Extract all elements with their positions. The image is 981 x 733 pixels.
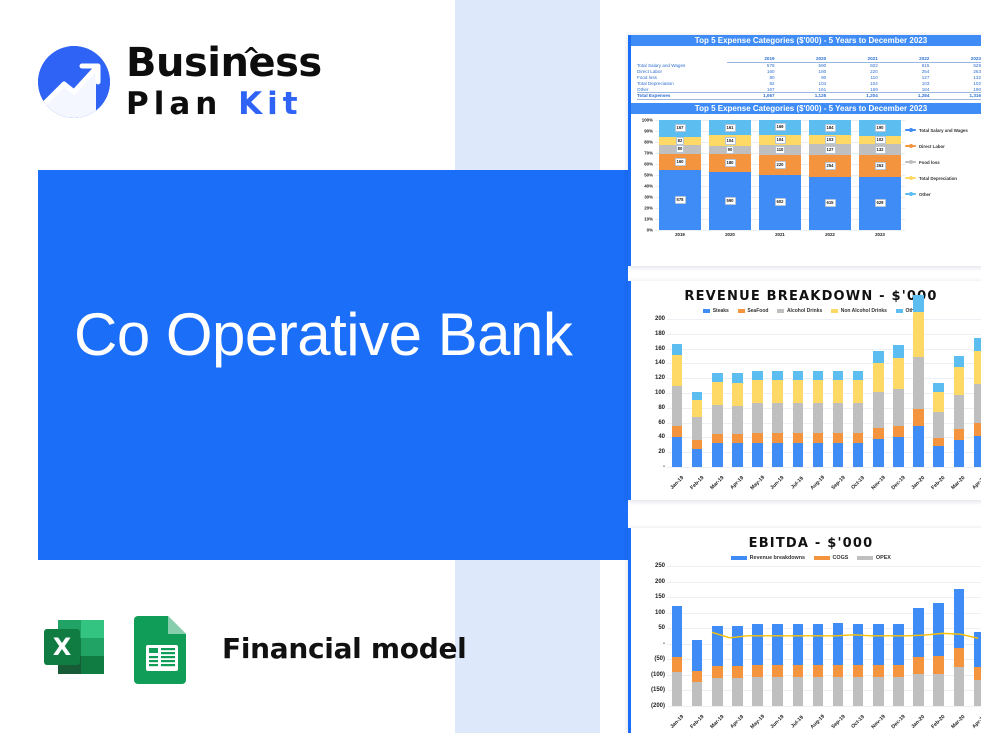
axis-tick-label: Oct-19 <box>850 714 866 730</box>
axis-tick-label: Sep-19 <box>830 714 846 730</box>
chart-bar-stack <box>933 319 943 467</box>
axis-tick: Dec-19 <box>888 710 908 728</box>
slide-canvas: Business^ Plan Kit Co Operative Bank X <box>0 0 981 733</box>
brand-logo-line1: Business^ <box>126 42 322 84</box>
axis-tick: Jan-20 <box>909 710 929 728</box>
legend-item: Total Depreciation <box>905 176 981 181</box>
axis-tick: May-19 <box>748 710 768 728</box>
chart-bar-segment <box>793 371 803 381</box>
chart-bar-segment <box>813 433 823 443</box>
chart-bar-segment <box>813 443 823 467</box>
bar-data-label: 180 <box>725 159 736 167</box>
chart-bar-segment <box>974 632 981 667</box>
chart-bar-segment <box>913 295 923 312</box>
axis-tick-label: 50% <box>644 172 653 177</box>
chart-bar-segment <box>813 624 823 664</box>
chart-bar-segment <box>813 403 823 433</box>
chart-bar-segment <box>833 380 843 403</box>
axis-tick-label: 60 <box>658 420 665 426</box>
chart-bar-segment <box>853 443 863 467</box>
chart-bar-stack <box>833 319 843 467</box>
chart-bar-column <box>949 319 969 467</box>
chart-bar-segment <box>712 626 722 666</box>
chart-bar-column <box>768 566 788 706</box>
brand-logo-line1-text: Business <box>126 40 322 86</box>
axis-tick-label: 120 <box>655 375 665 381</box>
chart-bar-segment <box>813 371 823 381</box>
chart-bar-segment <box>692 671 702 681</box>
chart-bar-segment: 80 <box>659 145 702 153</box>
legend-swatch <box>777 309 784 314</box>
chart-bar-segment <box>933 674 943 706</box>
expenses-table-wrap: 2019 2020 2021 2022 2023 Total Salary an… <box>631 46 981 103</box>
chart-bar-stack <box>893 319 903 467</box>
chart-bar-column <box>808 566 828 706</box>
axis-tick-label: Jan-20 <box>911 714 927 730</box>
chart-bar-column: 184103127254615 <box>809 120 852 230</box>
chart-bar-column <box>727 319 747 467</box>
legend-item: Alcohol Drinks <box>777 308 822 314</box>
chart-bar-segment: 167 <box>659 120 702 137</box>
chart-bar-segment <box>833 403 843 433</box>
chart-bar-stack <box>712 319 722 467</box>
chart-bar-stack <box>732 566 742 706</box>
chart-bar-segment: 104 <box>759 135 802 144</box>
axis-tick-label: Jul-19 <box>790 476 805 491</box>
axis-tick: Apr-20 <box>969 471 981 489</box>
chart-bar-segment: 110 <box>759 145 802 155</box>
bar-data-label: 160 <box>675 158 686 166</box>
legend-label: Total Depreciation <box>919 176 957 181</box>
chart-bar-segment <box>692 682 702 706</box>
axis-tick: Feb-19 <box>687 471 707 489</box>
revenue-screenshot-card[interactable]: REVENUE BREAKDOWN - $'000 SteaksSeaFoodA… <box>628 281 981 500</box>
table-cell: 1,316 <box>933 92 981 99</box>
chart-bar-segment <box>853 624 863 664</box>
chart-bar-segment <box>893 358 903 389</box>
chart-bar-segment <box>913 357 923 410</box>
chart-bar-segment <box>752 677 762 706</box>
revenue-chart-plot <box>667 319 981 467</box>
col-header-2021: 2021 <box>830 55 882 63</box>
axis-tick-label: 0% <box>647 227 653 232</box>
chart-bar-segment <box>853 665 863 678</box>
file-format-badges: X Financial model <box>38 612 466 684</box>
chart-bar-segment: 127 <box>809 144 852 155</box>
expenses-screenshot-card[interactable]: Top 5 Expense Categories ($'000) - 5 Yea… <box>628 35 981 266</box>
chart-bar-segment: 104 <box>709 135 752 145</box>
chart-bar-segment <box>793 677 803 706</box>
axis-tick-label: 40% <box>644 183 653 188</box>
chart-bar-segment <box>732 443 742 467</box>
chart-bar-column <box>888 319 908 467</box>
axis-tick-label: (200) <box>651 703 665 709</box>
axis-tick-label: Feb-19 <box>689 714 705 730</box>
axis-tick-label: 100% <box>642 117 653 122</box>
axis-tick-label: Jun-19 <box>770 475 786 491</box>
legend-swatch <box>905 161 916 163</box>
axis-tick-label: Mar-19 <box>709 475 725 491</box>
bar-data-label: 103 <box>825 136 836 144</box>
chart-bar-segment <box>974 423 981 436</box>
chart-bar-column <box>687 319 707 467</box>
axis-tick-label: 2019 <box>659 232 702 237</box>
col-header-2019: 2019 <box>727 55 779 63</box>
axis-tick: Oct-19 <box>848 471 868 489</box>
chart-bar-segment <box>954 440 964 467</box>
axis-tick-label: Apr-20 <box>971 714 981 730</box>
axis-tick-label: 100 <box>655 610 665 616</box>
chart-bar-segment <box>732 678 742 706</box>
chart-bar-segment <box>772 677 782 706</box>
chart-bar-segment: 590 <box>709 172 752 230</box>
axis-tick: Oct-19 <box>848 710 868 728</box>
axis-tick-label: 70% <box>644 150 653 155</box>
chart-bar-segment <box>752 403 762 433</box>
chart-bar-segment <box>772 433 782 443</box>
axis-tick-label: Jan-19 <box>669 475 685 491</box>
chart-bar-segment <box>793 624 803 664</box>
bar-data-label: 220 <box>775 161 786 169</box>
chart-bar-segment <box>752 371 762 381</box>
chart-bar-column <box>909 566 929 706</box>
chart-bar-segment <box>893 426 903 438</box>
legend-item: Food loss <box>905 160 981 165</box>
chart-bar-segment: 629 <box>859 177 902 230</box>
chart-bar-segment <box>772 371 782 381</box>
bar-data-label: 167 <box>675 124 686 132</box>
chart-bar-segment <box>933 383 943 392</box>
chart-bar-segment <box>853 380 863 403</box>
chart-bar-column <box>707 566 727 706</box>
col-header-2022: 2022 <box>882 55 934 63</box>
axis-tick-label: (150) <box>651 687 665 693</box>
bar-data-label: 590 <box>725 197 736 205</box>
table-total-row: Total Expenses1,0671,1251,2041,2841,316 <box>637 92 981 99</box>
chart-bar-segment: 90 <box>709 146 752 155</box>
chart-bar-segment <box>692 392 702 400</box>
axis-tick: Feb-19 <box>687 710 707 728</box>
chart-bar-segment <box>913 657 923 674</box>
chart-bar-segment <box>873 665 883 678</box>
axis-tick-label: 20% <box>644 205 653 210</box>
axis-tick: Nov-19 <box>868 471 888 489</box>
axis-tick-label: - <box>663 464 665 470</box>
chart-bar-segment <box>893 345 903 358</box>
chart-bar-segment <box>793 665 803 678</box>
bar-data-label: 110 <box>775 146 786 154</box>
axis-tick: Feb-20 <box>929 710 949 728</box>
legend-item: Revenue breakdowns <box>731 555 805 561</box>
chart-bar-segment <box>873 428 883 439</box>
chart-bar-segment <box>893 437 903 467</box>
chart-bar-column <box>929 566 949 706</box>
axis-tick-label: 10% <box>644 216 653 221</box>
expenses-chart-bars: 1678280160578161104901805901691041102206… <box>655 120 905 230</box>
chart-bar-segment <box>954 589 964 648</box>
chart-bar-stack <box>813 566 823 706</box>
chart-bar-segment <box>813 380 823 403</box>
axis-tick-label: Mar-19 <box>709 714 725 730</box>
chart-bar-segment <box>732 434 742 443</box>
bar-data-label: 169 <box>775 123 786 131</box>
chart-bar-segment <box>772 665 782 678</box>
axis-tick: Feb-20 <box>929 471 949 489</box>
chart-bar-segment <box>954 367 964 395</box>
bar-data-label: 104 <box>725 137 736 145</box>
legend-swatch <box>857 556 873 560</box>
table-header-row: 2019 2020 2021 2022 2023 <box>637 55 981 63</box>
chart-bar-column: 1678280160578 <box>659 120 702 230</box>
axis-tick: Mar-20 <box>949 710 969 728</box>
chart-bar-segment <box>712 373 722 382</box>
axis-tick-label: Feb-20 <box>931 714 947 730</box>
revenue-chart-body: 20018016014012010080604020- Jan-19Feb-19… <box>631 319 981 500</box>
chart-bar-segment <box>712 405 722 435</box>
chart-bar-segment <box>833 623 843 665</box>
axis-tick-label: 140 <box>655 360 665 366</box>
google-sheets-icon <box>132 612 192 684</box>
chart-bar-stack <box>692 319 702 467</box>
legend-swatch <box>731 556 747 560</box>
legend-label: Alcohol Drinks <box>787 308 822 314</box>
revenue-chart-bars <box>667 319 981 467</box>
chart-bar-stack <box>873 566 883 706</box>
row-label: Total Expenses <box>637 92 727 99</box>
legend-item: SeaFood <box>738 308 769 314</box>
chart-bar-segment <box>893 624 903 664</box>
bar-data-label: 629 <box>875 199 886 207</box>
chart-bar-segment <box>793 403 803 433</box>
ebitda-chart-body: 25020015010050-(50)(100)(150)(200) Jan-1… <box>631 566 981 733</box>
legend-item: Steaks <box>703 308 729 314</box>
chart-bar-segment <box>752 433 762 443</box>
chart-bar-segment <box>712 666 722 678</box>
axis-tick: Jan-19 <box>667 710 687 728</box>
legend-swatch <box>738 309 745 314</box>
legend-label: Total Salary and Wages <box>919 128 968 133</box>
chart-bar-segment <box>672 672 682 706</box>
expenses-table-body: Total Salary and Wages578590602615629Dir… <box>637 63 981 100</box>
axis-tick-label: 2020 <box>709 232 752 237</box>
axis-tick-label: 50 <box>658 625 665 631</box>
chart-bar-segment <box>772 443 782 467</box>
bar-data-label: 161 <box>725 124 736 132</box>
axis-tick-label: Apr-19 <box>730 714 746 730</box>
axis-tick-label: 90% <box>644 128 653 133</box>
axis-tick-label: 200 <box>655 579 665 585</box>
chart-bar-segment <box>833 665 843 678</box>
chart-bar-segment <box>954 429 964 440</box>
chart-bar-segment: 602 <box>759 175 802 230</box>
chart-bar-stack <box>974 566 981 706</box>
legend-label: Other <box>919 192 931 197</box>
expenses-chart-legend: Total Salary and WagesDirect LaborFood l… <box>905 128 981 208</box>
chart-bar-stack <box>712 566 722 706</box>
chart-bar-segment <box>732 373 742 383</box>
excel-icon: X <box>38 612 110 684</box>
chart-bar-segment <box>853 403 863 433</box>
chart-bar-segment <box>933 656 943 674</box>
file-format-label: Financial model <box>222 632 466 665</box>
trend-up-circle-icon <box>38 46 110 118</box>
legend-label: COGS <box>833 555 849 561</box>
legend-label: SeaFood <box>747 308 768 314</box>
chart-bar-segment: 220 <box>759 155 802 175</box>
chart-bar-segment <box>672 657 682 672</box>
axis-tick-label: Aug-19 <box>810 714 827 731</box>
col-header-2023: 2023 <box>933 55 981 63</box>
bar-data-label: 82 <box>676 137 685 145</box>
legend-item: COGS <box>814 555 848 561</box>
axis-tick-label: Aug-19 <box>810 475 827 492</box>
chart-bar-stack <box>933 566 943 706</box>
axis-tick: Jun-19 <box>768 710 788 728</box>
chart-bar-segment <box>732 383 742 406</box>
axis-tick-label: 2023 <box>859 232 902 237</box>
axis-tick: Sep-19 <box>828 710 848 728</box>
chart-bar-segment: 190 <box>859 120 902 136</box>
revenue-chart-x-labels: Jan-19Feb-19Mar-19Apr-19May-19Jun-19Jul-… <box>667 471 981 489</box>
ebitda-chart-x-labels: Jan-19Feb-19Mar-19Apr-19May-19Jun-19Jul-… <box>667 710 981 728</box>
expenses-table-banner: Top 5 Expense Categories ($'000) - 5 Yea… <box>631 35 981 46</box>
chart-bar-segment <box>772 624 782 664</box>
brand-logo: Business^ Plan Kit <box>38 28 338 123</box>
chart-bar-segment <box>712 382 722 405</box>
legend-item: Total Salary and Wages <box>905 128 981 133</box>
axis-tick-label: 80 <box>658 405 665 411</box>
chart-bar-stack <box>672 319 682 467</box>
axis-tick-label: 160 <box>655 346 665 352</box>
axis-tick: Apr-19 <box>727 471 747 489</box>
brand-logo-line2: Plan Kit <box>126 86 322 122</box>
axis-tick: Apr-19 <box>727 710 747 728</box>
chart-bar-column: 169104110220602 <box>759 120 802 230</box>
chart-bar-segment <box>672 606 682 658</box>
chart-bar-segment <box>873 363 883 393</box>
axis-tick: Mar-19 <box>707 710 727 728</box>
axis-tick: Jul-19 <box>788 471 808 489</box>
chart-bar-stack <box>853 566 863 706</box>
chart-bar-stack <box>833 566 843 706</box>
chart-bar-segment <box>672 426 682 437</box>
axis-tick: Apr-20 <box>969 710 981 728</box>
chart-bar-segment <box>873 392 883 428</box>
chart-bar-stack <box>913 319 923 467</box>
chart-bar-column <box>788 319 808 467</box>
chart-bar-stack <box>692 566 702 706</box>
chart-bar-segment: 615 <box>809 177 852 230</box>
axis-tick-label: Jul-19 <box>790 715 805 730</box>
chart-bar-segment <box>712 434 722 443</box>
chart-bar-segment <box>732 406 742 435</box>
legend-swatch <box>831 309 838 314</box>
legend-label: Non Alcohol Drinks <box>841 308 887 314</box>
chart-bar-column <box>888 566 908 706</box>
bar-data-label: 102 <box>875 136 886 144</box>
axis-tick-label: 100 <box>655 390 665 396</box>
ebitda-chart-legend: Revenue breakdownsCOGSOPEX <box>631 555 981 561</box>
axis-tick-label: Nov-19 <box>870 475 886 491</box>
legend-label: OPEX <box>876 555 891 561</box>
ebitda-chart-plot <box>667 566 981 706</box>
legend-item: OPEX <box>857 555 890 561</box>
chart-bar-stack <box>752 566 762 706</box>
chart-bar-stack <box>752 319 762 467</box>
axis-tick-label: 150 <box>655 594 665 600</box>
ebitda-screenshot-card[interactable]: EBITDA - $'000 Revenue breakdownsCOGSOPE… <box>628 528 981 733</box>
chart-bar-segment <box>974 384 981 423</box>
chart-bar-segment <box>692 640 702 671</box>
axis-tick-label: Sep-19 <box>830 475 846 491</box>
legend-item: Non Alcohol Drinks <box>831 308 887 314</box>
chart-bar-column: 16110490180590 <box>709 120 752 230</box>
legend-label: Food loss <box>919 160 940 165</box>
chart-bar-stack <box>793 319 803 467</box>
chart-bar-stack <box>974 319 981 467</box>
chart-bar-column <box>727 566 747 706</box>
expenses-chart-banner: Top 5 Expense Categories ($'000) - 5 Yea… <box>631 103 981 114</box>
chart-bar-segment: 82 <box>659 137 702 145</box>
brand-logo-plan: Plan <box>126 86 222 122</box>
chart-bar-segment <box>833 443 843 467</box>
axis-tick-label: Oct-19 <box>850 475 866 491</box>
chart-bar-segment: 184 <box>809 120 852 136</box>
bar-data-label: 578 <box>675 196 686 204</box>
chart-bar-segment <box>752 665 762 678</box>
axis-tick-label: Dec-19 <box>890 714 906 730</box>
axis-tick-label: 20 <box>658 449 665 455</box>
axis-tick: May-19 <box>748 471 768 489</box>
bar-data-label: 132 <box>875 146 886 154</box>
chart-bar-column <box>848 566 868 706</box>
col-header-2020: 2020 <box>779 55 831 63</box>
brand-logo-kit: Kit <box>238 86 302 122</box>
axis-tick-label: Jan-19 <box>669 714 685 730</box>
chart-bar-segment: 103 <box>809 135 852 144</box>
bar-data-label: 602 <box>775 198 786 206</box>
table-cell: 1,284 <box>882 92 934 99</box>
axis-tick-label: Apr-20 <box>971 475 981 491</box>
axis-tick-label: 2021 <box>759 232 802 237</box>
chart-bar-segment <box>913 426 923 467</box>
axis-tick-label: Mar-20 <box>951 714 967 730</box>
chart-bar-segment: 180 <box>709 154 752 172</box>
chart-bar-column <box>949 566 969 706</box>
chart-bar-segment <box>933 392 943 412</box>
chart-bar-segment <box>974 338 981 351</box>
axis-tick-label: Nov-19 <box>870 714 886 730</box>
bar-data-label: 184 <box>825 124 836 132</box>
chart-bar-segment <box>793 433 803 443</box>
axis-tick: Mar-20 <box>949 471 969 489</box>
chart-bar-stack <box>913 566 923 706</box>
bar-data-label: 254 <box>825 162 836 170</box>
table-cell: 1,125 <box>779 92 831 99</box>
chart-bar-column <box>868 319 888 467</box>
chart-bar-segment <box>913 674 923 706</box>
chart-bar-segment <box>913 608 923 657</box>
chart-bar-stack <box>873 319 883 467</box>
brand-logo-circumflex: ^ <box>242 36 260 78</box>
axis-tick-label: 40 <box>658 434 665 440</box>
axis-tick-label: Feb-19 <box>689 475 705 491</box>
chart-bar-segment <box>692 417 702 440</box>
chart-bar-column <box>868 566 888 706</box>
chart-bar-column <box>808 319 828 467</box>
axis-tick-label: Dec-19 <box>890 475 906 491</box>
chart-bar-segment <box>672 355 682 387</box>
